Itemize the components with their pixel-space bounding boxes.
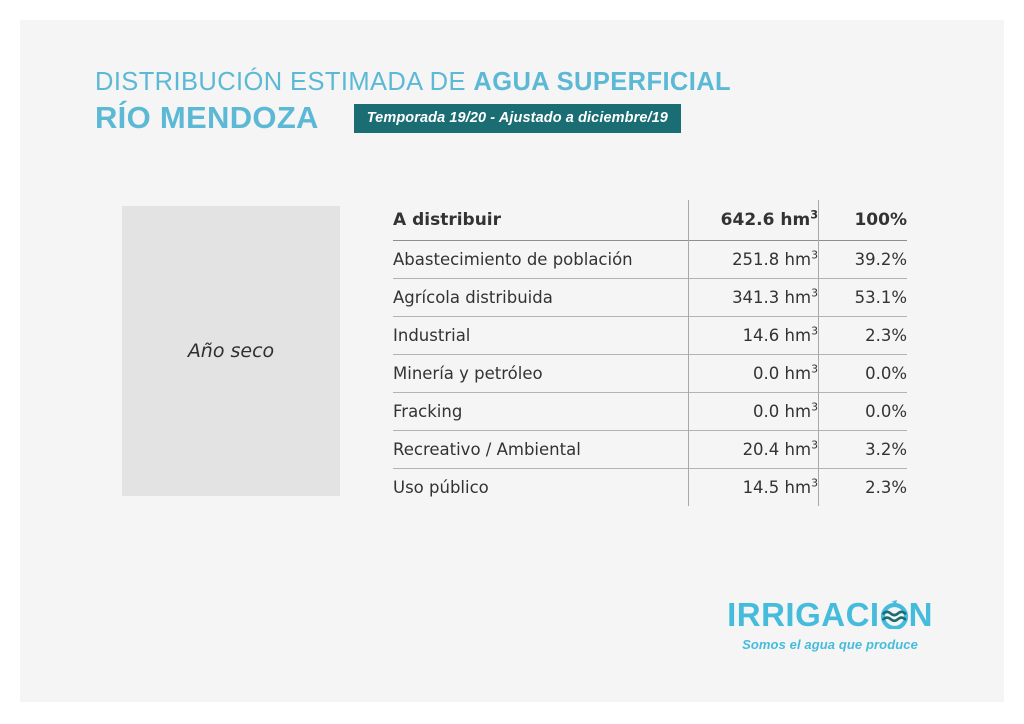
- page-title: DISTRIBUCIÓN ESTIMADA DE AGUA SUPERFICIA…: [95, 68, 955, 97]
- row-value-text: 14.5 hm: [743, 478, 812, 497]
- title-prefix: DISTRIBUCIÓN ESTIMADA DE: [95, 68, 473, 96]
- distribution-table-wrapper: A distribuir 642.6 hm3 100% Abastecimien…: [393, 200, 905, 506]
- row-label: Minería y petróleo: [393, 355, 689, 393]
- page-subtitle: RÍO MENDOZA: [95, 101, 319, 135]
- distribution-table: A distribuir 642.6 hm3 100% Abastecimien…: [393, 200, 907, 506]
- table-row: Uso público 14.5 hm3 2.3%: [393, 469, 907, 507]
- logo-word-part1: IRRIGACI: [727, 598, 880, 631]
- row-value: 0.0 hm3: [689, 393, 819, 431]
- row-value-text: 20.4 hm: [743, 440, 812, 459]
- row-label: Industrial: [393, 317, 689, 355]
- row-label: Abastecimiento de población: [393, 241, 689, 279]
- year-type-label: Año seco: [188, 340, 274, 362]
- logo-wordmark: IRRIGACI N: [725, 598, 935, 631]
- row-value-superscript: 3: [811, 249, 818, 262]
- row-value: 14.5 hm3: [689, 469, 819, 507]
- row-pct: 39.2%: [819, 241, 908, 279]
- header-pct-cell: 100%: [819, 200, 908, 241]
- logo-word-part2: N: [909, 598, 933, 631]
- water-waves-icon: [880, 600, 909, 629]
- header-value-superscript: 3: [810, 208, 818, 221]
- irrigacion-logo: IRRIGACI N Somos el agua que produce: [725, 598, 935, 652]
- row-value-text: 0.0 hm: [753, 364, 811, 383]
- header-value-cell: 642.6 hm3: [689, 200, 819, 241]
- season-badge: Temporada 19/20 - Ajustado a diciembre/1…: [354, 104, 681, 133]
- header-value-text: 642.6 hm: [721, 210, 811, 230]
- row-value-superscript: 3: [811, 401, 818, 414]
- row-value-superscript: 3: [811, 477, 818, 490]
- row-value-text: 0.0 hm: [753, 402, 811, 421]
- table-header-row: A distribuir 642.6 hm3 100%: [393, 200, 907, 241]
- row-label: Recreativo / Ambiental: [393, 431, 689, 469]
- header: DISTRIBUCIÓN ESTIMADA DE AGUA SUPERFICIA…: [95, 68, 955, 135]
- table-row: Fracking 0.0 hm3 0.0%: [393, 393, 907, 431]
- row-label: Fracking: [393, 393, 689, 431]
- row-pct: 0.0%: [819, 393, 908, 431]
- row-value-superscript: 3: [811, 325, 818, 338]
- row-label: Uso público: [393, 469, 689, 507]
- slide-canvas: DISTRIBUCIÓN ESTIMADA DE AGUA SUPERFICIA…: [20, 20, 1004, 702]
- row-value: 341.3 hm3: [689, 279, 819, 317]
- row-pct: 2.3%: [819, 317, 908, 355]
- row-value-superscript: 3: [811, 363, 818, 376]
- row-value-text: 341.3 hm: [732, 288, 811, 307]
- title-emphasis: AGUA SUPERFICIAL: [473, 68, 731, 96]
- logo-tagline: Somos el agua que produce: [725, 637, 935, 652]
- row-value: 0.0 hm3: [689, 355, 819, 393]
- row-value-text: 14.6 hm: [743, 326, 812, 345]
- row-pct: 3.2%: [819, 431, 908, 469]
- row-pct: 2.3%: [819, 469, 908, 507]
- row-value-superscript: 3: [811, 287, 818, 300]
- table-row: Agrícola distribuida 341.3 hm3 53.1%: [393, 279, 907, 317]
- table-row: Abastecimiento de población 251.8 hm3 39…: [393, 241, 907, 279]
- row-value: 251.8 hm3: [689, 241, 819, 279]
- table-row: Recreativo / Ambiental 20.4 hm3 3.2%: [393, 431, 907, 469]
- row-value-superscript: 3: [811, 439, 818, 452]
- table-row: Minería y petróleo 0.0 hm3 0.0%: [393, 355, 907, 393]
- row-pct: 53.1%: [819, 279, 908, 317]
- row-label: Agrícola distribuida: [393, 279, 689, 317]
- row-value: 20.4 hm3: [689, 431, 819, 469]
- year-image-placeholder: Año seco: [122, 206, 340, 496]
- row-value-text: 251.8 hm: [732, 250, 811, 269]
- header-label-cell: A distribuir: [393, 200, 689, 241]
- subtitle-row: RÍO MENDOZA Temporada 19/20 - Ajustado a…: [95, 101, 955, 135]
- table-row: Industrial 14.6 hm3 2.3%: [393, 317, 907, 355]
- row-pct: 0.0%: [819, 355, 908, 393]
- row-value: 14.6 hm3: [689, 317, 819, 355]
